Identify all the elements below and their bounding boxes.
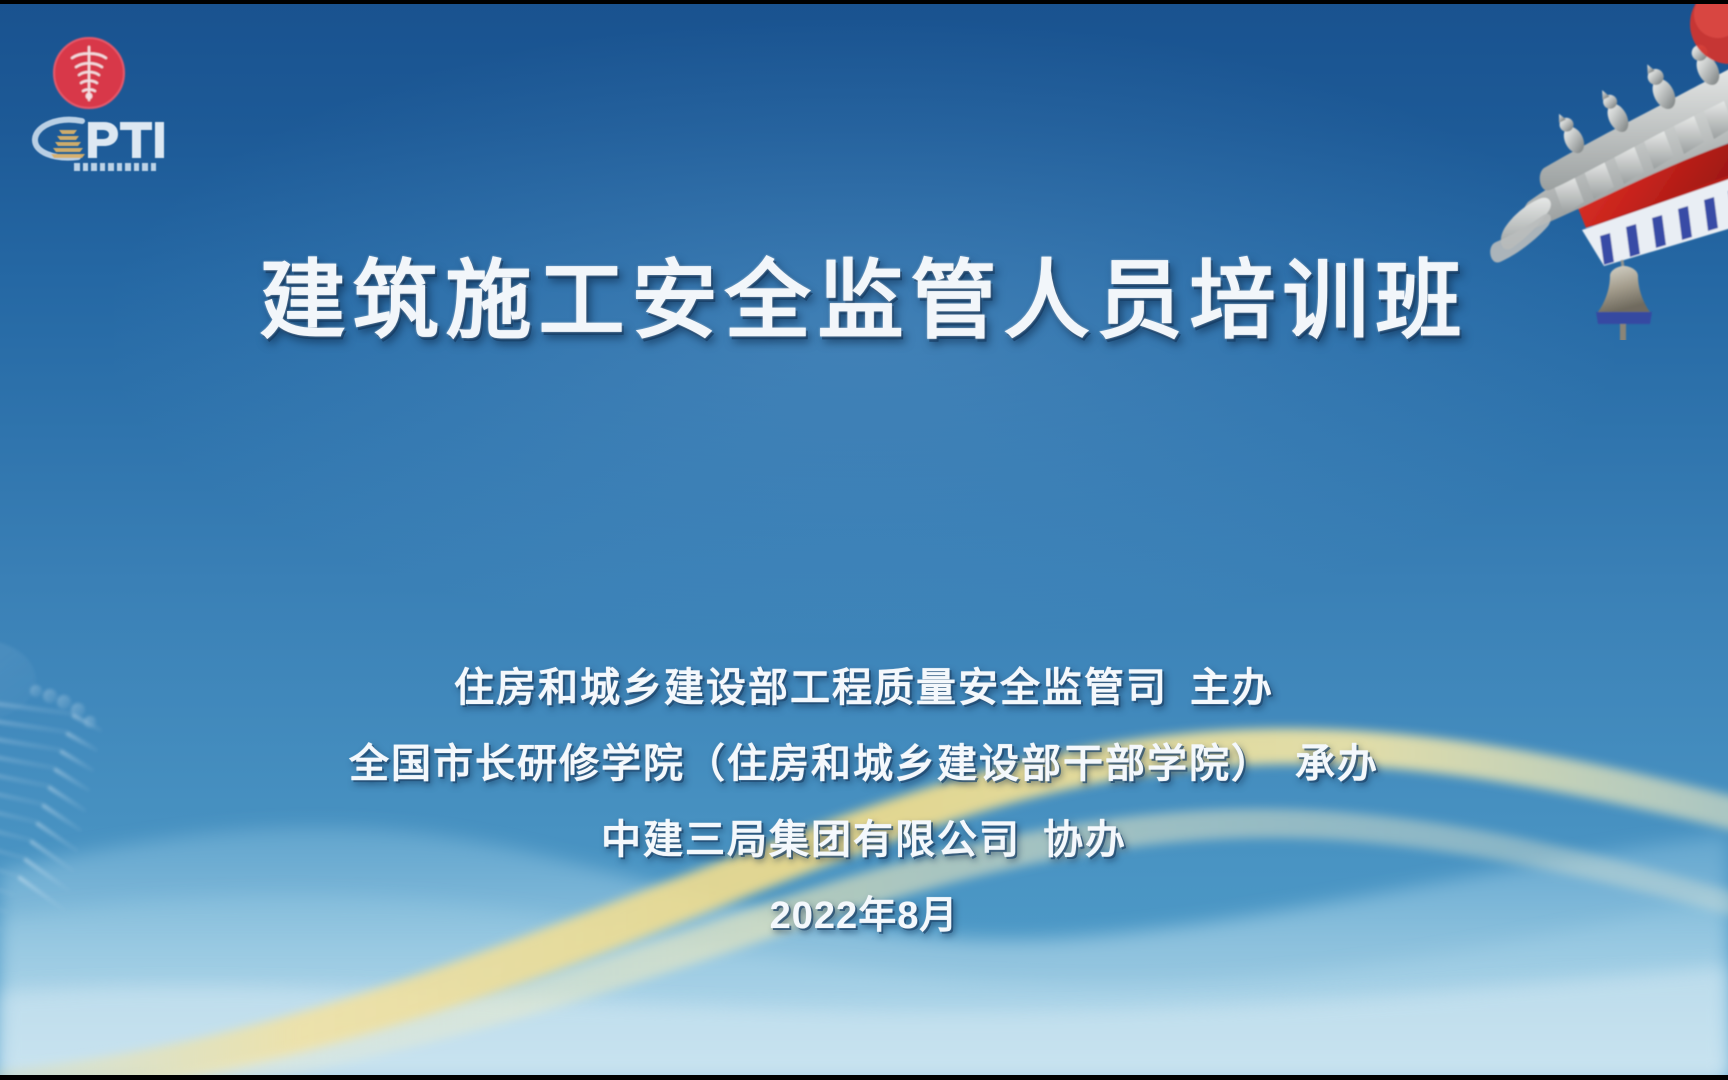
capti-seal-icon xyxy=(50,34,128,112)
capti-wordmark-logo xyxy=(28,112,178,174)
presentation-slide: 建筑施工安全监管人员培训班 住房和城乡建设部工程质量安全监管司主办 全国市长研修… xyxy=(0,0,1728,1080)
credit-role: 协办 xyxy=(1043,818,1127,862)
logo-group xyxy=(28,34,188,184)
letterbox-bottom xyxy=(0,1075,1728,1080)
page-title: 建筑施工安全监管人员培训班 xyxy=(0,255,1728,348)
credit-organizer: 住房和城乡建设部工程质量安全监管司 xyxy=(454,666,1168,710)
credit-line: 全国市长研修学院（住房和城乡建设部干部学院）承办 xyxy=(0,726,1728,802)
letterbox-top xyxy=(0,0,1728,4)
credit-role: 主办 xyxy=(1190,666,1274,710)
credit-role: 承办 xyxy=(1295,742,1379,786)
credit-organizer: 中建三局集团有限公司 xyxy=(601,818,1021,862)
credit-organizer: 全国市长研修学院（住房和城乡建设部干部学院） xyxy=(349,742,1273,786)
credit-line: 住房和城乡建设部工程质量安全监管司主办 xyxy=(0,650,1728,726)
credits-block: 住房和城乡建设部工程质量安全监管司主办 全国市长研修学院（住房和城乡建设部干部学… xyxy=(0,650,1728,954)
slide-date: 2022年8月 xyxy=(0,878,1728,954)
credit-line: 中建三局集团有限公司协办 xyxy=(0,802,1728,878)
